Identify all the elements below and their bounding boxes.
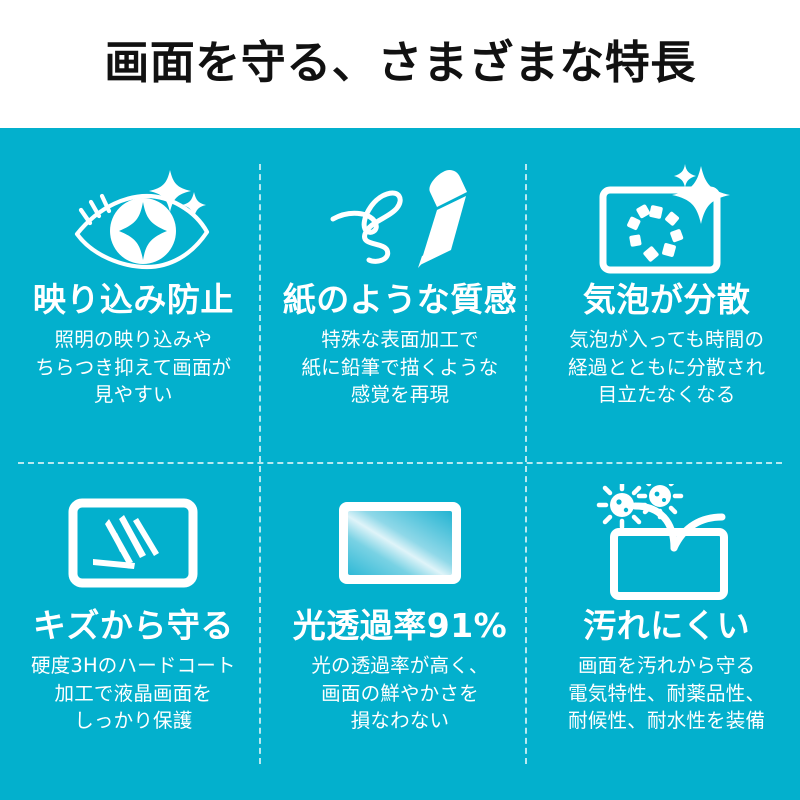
header-band: 画面を守る、さまざまな特長 [0,0,800,128]
feature-heading: 気泡が分散 [583,282,751,319]
feature-cell-light-transmission: 光透過率91% 光の透過率が高く、 画面の鮮やかさを 損なわない [267,462,534,800]
feature-description: 光の透過率が高く、 画面の鮮やかさを 損なわない [311,652,488,735]
screen-scratch-icon [67,484,199,602]
pencil-scribble-icon [325,162,475,278]
feature-heading: 映り込み防止 [33,282,234,319]
screen-germ-repel-icon [594,484,740,602]
screen-bubbles-sparkle-icon [597,162,737,278]
divider-vertical-right [525,164,527,764]
sparkling-eye-icon [55,162,211,278]
feature-heading: キズから守る [33,608,234,645]
feature-heading: 汚れにくい [583,608,750,645]
feature-cell-anti-glare: 映り込み防止 照明の映り込みや ちらつき抑えて画面が 見やすい [0,128,267,462]
features-grid: 映り込み防止 照明の映り込みや ちらつき抑えて画面が 見やすい [0,128,800,800]
infographic-page: 画面を守る、さまざまな特長 [0,0,800,800]
feature-cell-bubble-dispersion: 気泡が分散 気泡が入っても時間の 経過とともに分散され 目立たなくなる [533,128,800,462]
page-title: 画面を守る、さまざまな特長 [104,40,696,85]
feature-cell-stain-resistant: 汚れにくい 画面を汚れから守る 電気特性、耐薬品性、 耐候性、耐水性を装備 [533,462,800,800]
feature-description: 気泡が入っても時間の 経過とともに分散され 目立たなくなる [568,326,765,409]
feature-heading: 紙のような質感 [283,282,518,319]
features-panel: 映り込み防止 照明の映り込みや ちらつき抑えて画面が 見やすい [0,128,800,800]
feature-description: 硬度3Hのハードコート 加工で液晶画面を しっかり保護 [31,652,236,735]
divider-vertical-left [259,164,261,764]
divider-horizontal [18,462,782,464]
feature-cell-paper-texture: 紙のような質感 特殊な表面加工で 紙に鉛筆で描くような 感覚を再現 [267,128,534,462]
feature-cell-scratch-protection: キズから守る 硬度3Hのハードコート 加工で液晶画面を しっかり保護 [0,462,267,800]
feature-description: 画面を汚れから守る 電気特性、耐薬品性、 耐候性、耐水性を装備 [568,652,765,735]
feature-description: 照明の映り込みや ちらつき抑えて画面が 見やすい [35,326,231,409]
feature-heading: 光透過率91% [293,608,508,645]
feature-description: 特殊な表面加工で 紙に鉛筆で描くような 感覚を再現 [301,326,498,409]
screen-light-transmission-icon [334,484,466,602]
